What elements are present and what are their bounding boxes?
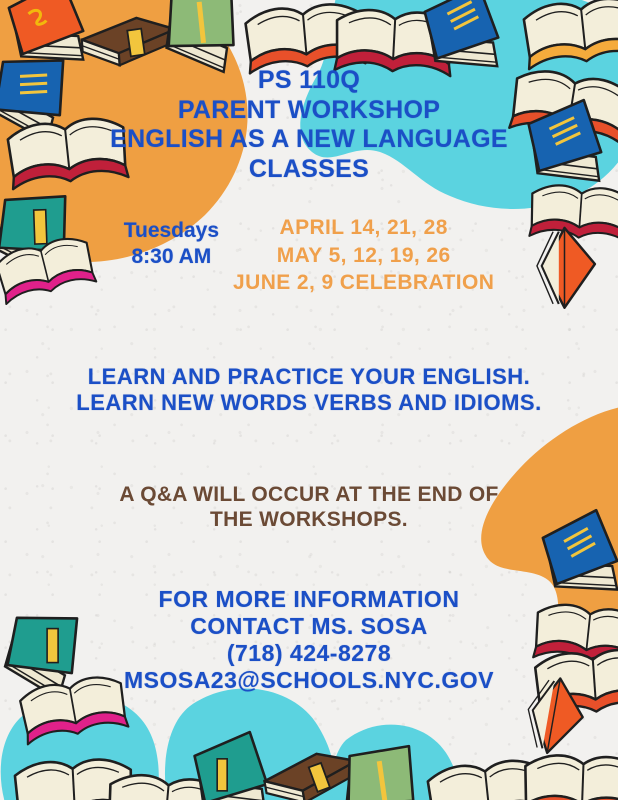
- qa-line-2: THE WORKSHOPS.: [0, 508, 618, 533]
- schedule-date-may: MAY 5, 12, 19, 26: [233, 242, 494, 270]
- schedule-time: 8:30 AM: [124, 244, 219, 270]
- title-line-1: PS 110Q: [0, 66, 618, 96]
- learn-block: LEARN AND PRACTICE YOUR ENGLISH. LEARN N…: [0, 364, 618, 416]
- schedule-date-june: JUNE 2, 9 CELEBRATION: [233, 269, 494, 297]
- schedule-block: Tuesdays 8:30 AM APRIL 14, 21, 28 MAY 5,…: [0, 214, 618, 297]
- qa-block: A Q&A WILL OCCUR AT THE END OF THE WORKS…: [0, 483, 618, 533]
- contact-email: MSOSA23@SCHOOLS.NYC.GOV: [0, 667, 618, 694]
- title-line-3: ENGLISH AS A NEW LANGUAGE: [0, 125, 618, 155]
- contact-block: FOR MORE INFORMATION CONTACT MS. SOSA (7…: [0, 586, 618, 695]
- learn-line-2: LEARN NEW WORDS VERBS AND IDIOMS.: [0, 390, 618, 416]
- contact-phone: (718) 424-8278: [0, 640, 618, 667]
- schedule-day: Tuesdays: [124, 218, 219, 244]
- contact-line-name: CONTACT MS. SOSA: [0, 613, 618, 640]
- contact-line-info: FOR MORE INFORMATION: [0, 586, 618, 613]
- flyer-poster: PS 110Q PARENT WORKSHOP ENGLISH AS A NEW…: [0, 0, 618, 800]
- title-block: PS 110Q PARENT WORKSHOP ENGLISH AS A NEW…: [0, 66, 618, 184]
- schedule-date-april: APRIL 14, 21, 28: [233, 214, 494, 242]
- schedule-day-time: Tuesdays 8:30 AM: [124, 214, 219, 271]
- title-line-4: CLASSES: [0, 155, 618, 185]
- title-line-2: PARENT WORKSHOP: [0, 96, 618, 126]
- learn-line-1: LEARN AND PRACTICE YOUR ENGLISH.: [0, 364, 618, 390]
- flyer-content: PS 110Q PARENT WORKSHOP ENGLISH AS A NEW…: [0, 0, 618, 800]
- qa-line-1: A Q&A WILL OCCUR AT THE END OF: [0, 483, 618, 508]
- schedule-dates: APRIL 14, 21, 28 MAY 5, 12, 19, 26 JUNE …: [233, 214, 494, 297]
